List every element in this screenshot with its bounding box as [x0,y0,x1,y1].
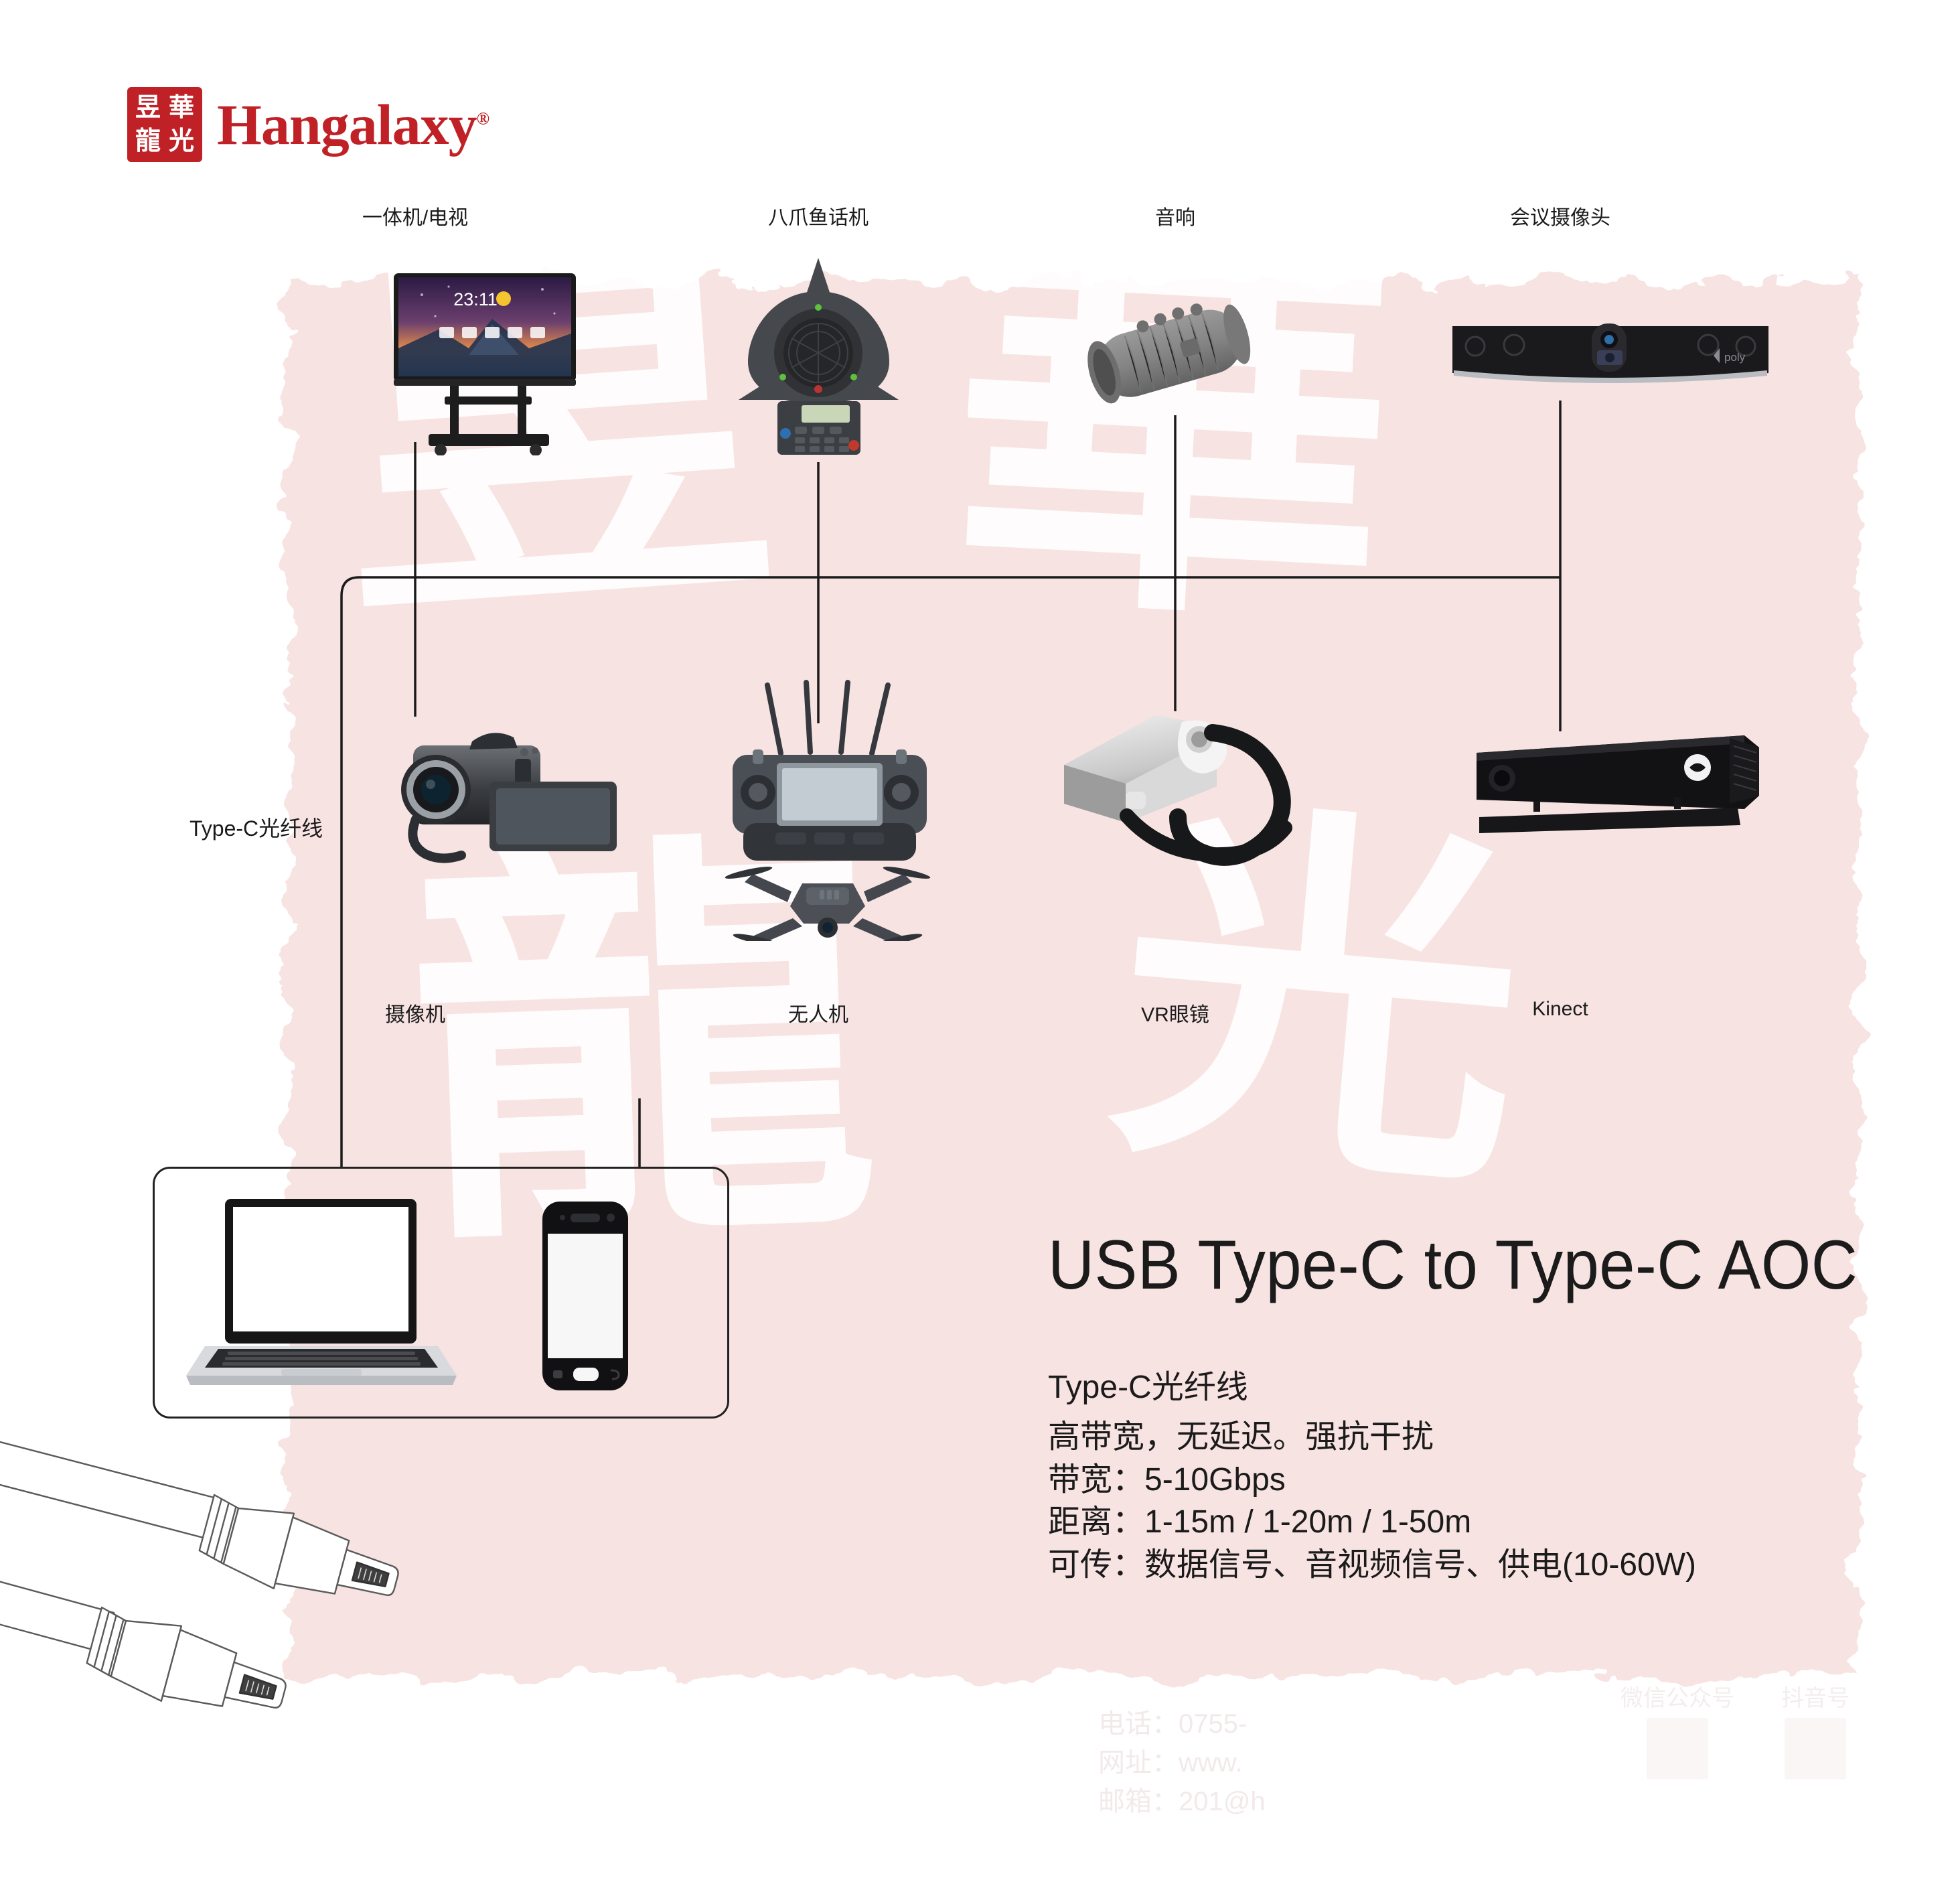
device-label-vr: VR眼镜 [1128,998,1222,1027]
vr-headset-icon [1048,703,1329,887]
wechat-qr-icon [1647,1718,1708,1780]
brand-logo: 昱 華 龍 光 Hangalaxy® [127,87,489,162]
laptop-icon [181,1192,462,1393]
svg-text:poly: poly [1724,351,1746,364]
cable-callout-label: Type-C光纤线 [190,812,323,843]
seal-char-4: 光 [165,125,198,158]
device-label-conference-camera: 会议摄像头 [1500,201,1620,230]
seal-stamp-icon: 昱 華 龍 光 [127,87,202,162]
usb-c-cable-lineart [0,1420,663,1884]
wechat-badge: 微信公众号 [1620,1680,1734,1780]
device-label-display: 一体机/电视 [355,201,475,230]
device-laptop [181,1192,462,1396]
conference-speakerphone-icon [727,251,911,462]
svg-text:23:11: 23:11 [453,289,498,309]
douyin-badge: 抖音号 [1781,1680,1850,1780]
product-title: USB Type-C to Type-C AOC [1048,1226,1874,1305]
device-camcorder [372,707,633,877]
wechat-label: 微信公众号 [1620,1680,1734,1713]
device-speaker [1071,291,1272,422]
device-label-speaker: 音响 [1135,201,1215,230]
device-display: 23:11 [375,255,603,459]
trademark-icon: ® [477,108,489,128]
device-drone [703,653,958,944]
spec-line-2: 带宽：5-10Gbps [1048,1459,1939,1502]
douyin-label: 抖音号 [1781,1680,1850,1713]
spec-line-4: 可传：数据信号、音视频信号、供电(10-60W) [1048,1544,1939,1587]
spec-line-3: 距离：1-15m / 1-20m / 1-50m [1048,1501,1939,1544]
smartphone-icon [536,1199,636,1393]
spec-subtitle: Type-C光纤线 [1048,1366,1939,1409]
device-label-speakerphone: 八爪鱼话机 [758,201,879,230]
device-label-drone: 无人机 [778,998,858,1027]
bluetooth-speaker-icon [1071,291,1272,419]
product-specs: Type-C光纤线 高带宽，无延迟。强抗干扰 带宽：5-10Gbps 距离：1-… [1048,1366,1939,1587]
camcorder-icon [372,707,633,874]
conference-camera-icon: poly [1443,311,1778,402]
device-vr-headset [1048,703,1329,891]
interactive-display-icon: 23:11 [375,255,603,455]
device-label-camcorder: 摄像机 [375,998,455,1027]
poster-canvas: 昱 華 龍 光 昱 華 龍 光 Hangalaxy® [0,0,1960,1884]
seal-char-2: 華 [165,91,198,125]
device-smartphone [536,1199,636,1396]
social-badges: 微信公众号 抖音号 [1620,1680,1850,1780]
drone-controller-icon [703,653,958,941]
footer-email: 邮箱：201@h [1098,1782,1835,1821]
device-conference-camera: poly [1443,311,1778,405]
seal-char-3: 龍 [131,125,165,158]
device-speakerphone [727,251,911,465]
brand-wordmark: Hangalaxy® [217,91,489,158]
device-label-kinect: Kinect [1513,998,1607,1021]
spec-line-1: 高带宽，无延迟。强抗干扰 [1048,1416,1939,1459]
kinect-sensor-icon [1456,723,1771,877]
brand-name: Hangalaxy [217,92,477,157]
device-kinect [1456,723,1771,881]
seal-char-1: 昱 [131,91,165,125]
douyin-qr-icon [1785,1718,1846,1780]
